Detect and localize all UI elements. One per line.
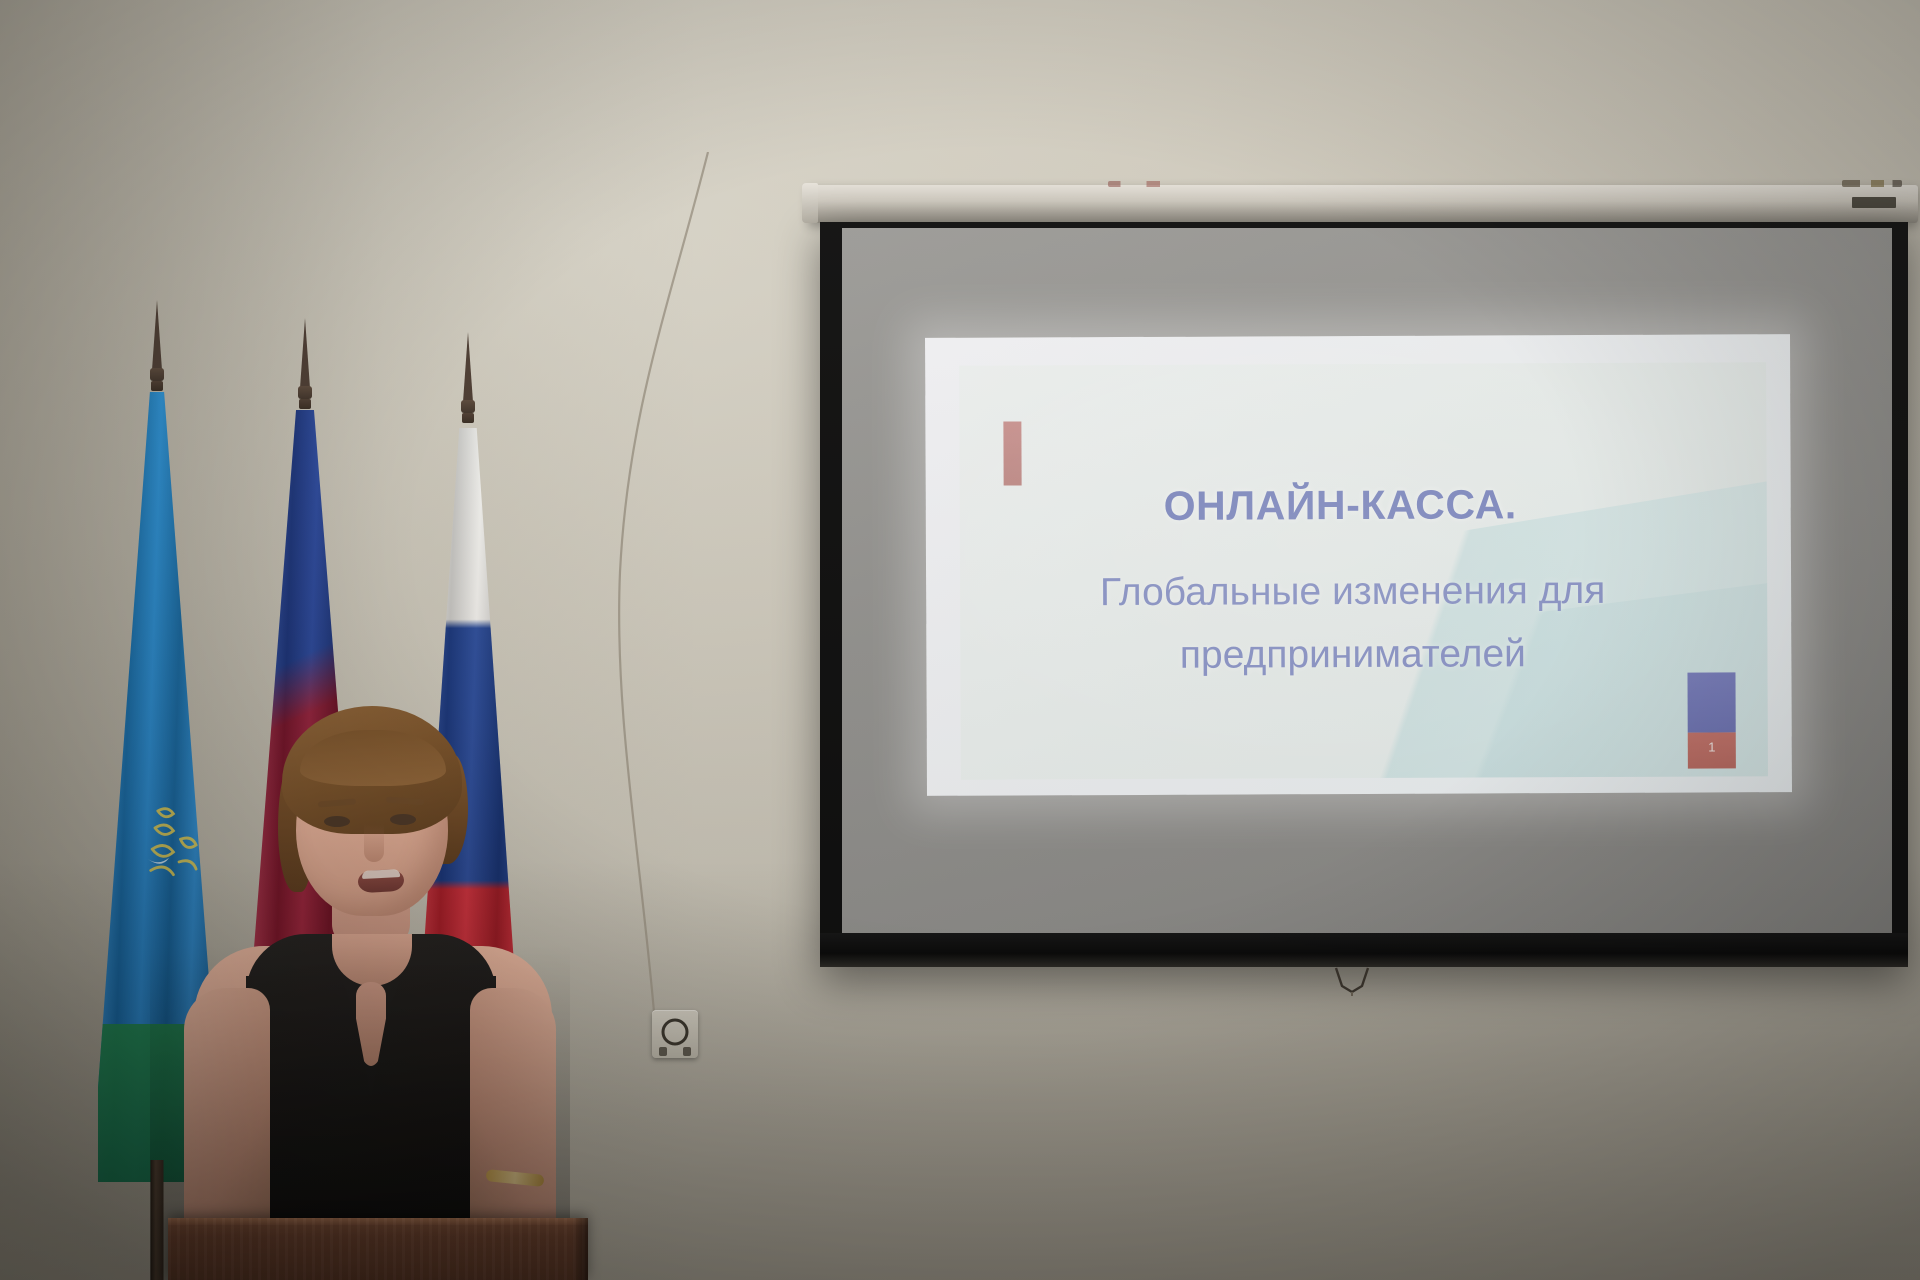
- scene-vignette: [0, 0, 1920, 1280]
- photo-scene: ОНЛАЙН-КАССА. Глобальные изменения для п…: [0, 0, 1920, 1280]
